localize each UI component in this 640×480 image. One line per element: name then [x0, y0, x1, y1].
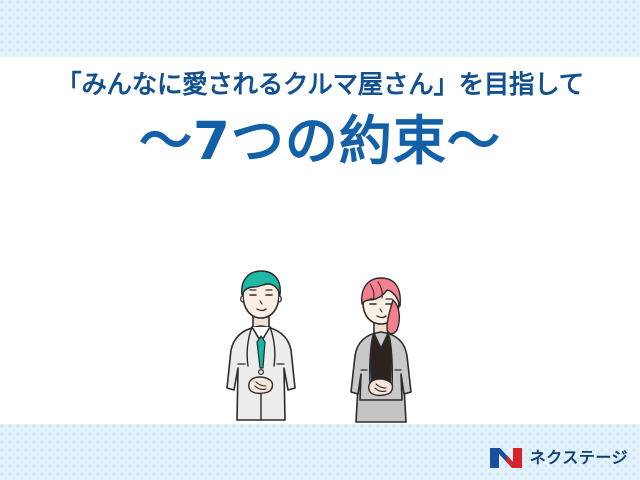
- brand-lockup: ネクステージ: [489, 447, 628, 469]
- female-staff-figure: [340, 276, 422, 426]
- poster-canvas: 「みんなに愛されるクルマ屋さん」を目指して 〜7つの約束〜: [0, 0, 640, 480]
- male-staff-figure: [218, 268, 304, 426]
- staff-illustration: [0, 268, 640, 426]
- poster-headline: 「みんなに愛されるクルマ屋さん」を目指して: [0, 73, 640, 99]
- poster-subheadline: 〜7つの約束〜: [0, 114, 640, 170]
- brand-name: ネクステージ: [530, 450, 628, 466]
- nextage-n-mark-icon: [489, 447, 523, 469]
